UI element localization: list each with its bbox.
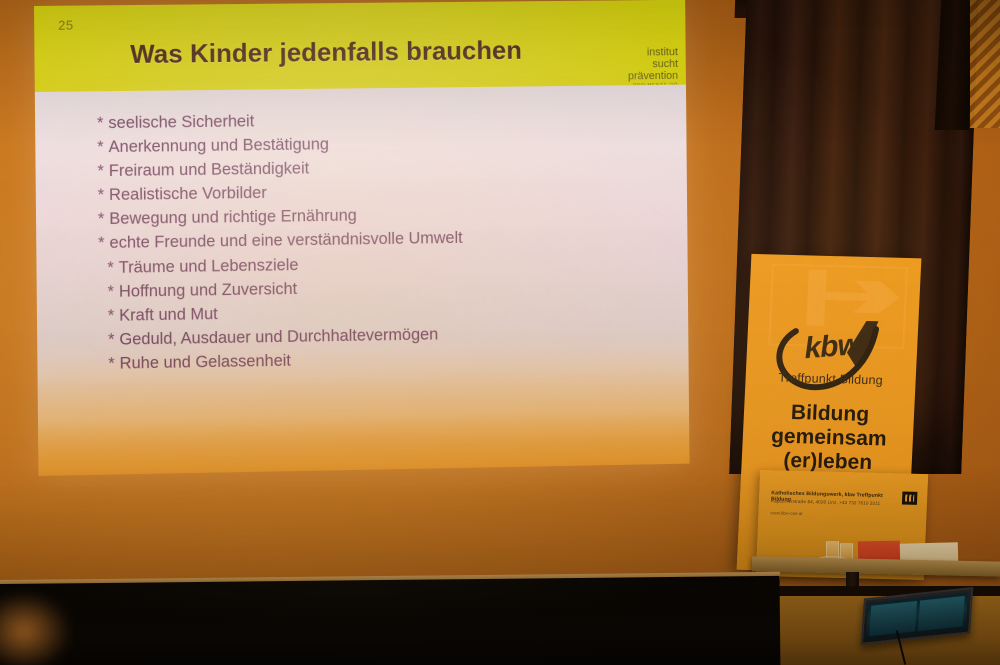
list-item: *Realistische Vorbilder	[98, 180, 648, 204]
bullet-star-icon: *	[97, 114, 104, 132]
bullet-text: seelische Sicherheit	[108, 112, 254, 132]
slide-number: 25	[58, 18, 74, 33]
list-item: *Bewegung und richtige Ernährung	[98, 204, 648, 228]
stage-front	[0, 576, 780, 665]
list-item: *Geduld, Ausdauer und Durchhaltevermögen	[99, 323, 649, 348]
banner-headline: Bildung gemeinsam (er)leben	[751, 400, 906, 476]
bullet-star-icon: *	[108, 307, 115, 325]
bullet-star-icon: *	[97, 138, 104, 156]
laptop-screen-pane	[917, 596, 964, 631]
laptop-screen	[866, 593, 968, 640]
bullet-star-icon: *	[98, 186, 105, 204]
logo-line-4: PRO MENTE OÖ	[628, 83, 678, 89]
bullet-star-icon: *	[108, 282, 115, 300]
bullet-text: Geduld, Ausdauer und Durchhaltevermögen	[119, 325, 438, 348]
bullet-text: Bewegung und richtige Ernährung	[109, 207, 357, 228]
bullet-text: Ruhe und Gelassenheit	[120, 352, 291, 373]
list-item: *Anerkennung und Bestätigung	[97, 133, 647, 156]
bullet-star-icon: *	[98, 210, 105, 228]
bullet-star-icon: *	[97, 162, 104, 180]
bullet-star-icon: *	[98, 234, 105, 252]
list-item: *Kraft und Mut	[99, 299, 649, 324]
bullet-text: Freiraum und Beständigkeit	[109, 160, 309, 181]
foreground-blur	[0, 596, 90, 665]
banner-contact-website: www.kbw-ooe.at	[770, 510, 802, 516]
photo-scene: 25 Was Kinder jedenfalls brauchen instit…	[0, 0, 1000, 665]
bullet-text: Träume und Lebensziele	[119, 256, 299, 277]
bullet-text: echte Freunde und eine verständnisvolle …	[109, 229, 462, 252]
laptop-screen-pane	[869, 601, 916, 636]
slide-title: Was Kinder jedenfalls brauchen	[130, 35, 522, 70]
bullet-text: Kraft und Mut	[119, 305, 218, 325]
bullet-star-icon: *	[107, 258, 114, 276]
slide-bullet-list: *seelische Sicherheit *Anerkennung und B…	[97, 109, 650, 380]
bullet-text: Anerkennung und Bestätigung	[109, 135, 329, 156]
projected-slide: 25 Was Kinder jedenfalls brauchen instit…	[34, 0, 690, 476]
list-item: *Träume und Lebensziele	[98, 252, 648, 277]
list-item: *Freiraum und Beständigkeit	[97, 156, 647, 179]
bullet-star-icon: *	[108, 355, 115, 373]
list-item: *echte Freunde und eine verständnisvolle…	[98, 228, 648, 252]
list-item: *Ruhe und Gelassenheit	[99, 347, 649, 373]
bullet-text: Realistische Vorbilder	[109, 184, 267, 204]
logo-line-3: prävention	[628, 71, 678, 83]
institut-sucht-praevention-logo: institut sucht prävention PRO MENTE OÖ	[628, 47, 678, 89]
bullet-star-icon: *	[108, 331, 115, 349]
bullet-text: Hoffnung und Zuversicht	[119, 280, 297, 301]
list-item: *Hoffnung und Zuversicht	[99, 275, 649, 300]
slide-canvas: 25 Was Kinder jedenfalls brauchen instit…	[34, 0, 690, 476]
banner-qr-mark-icon	[902, 491, 918, 504]
wall-ornament-icon	[970, 0, 1000, 128]
list-item: *seelische Sicherheit	[97, 109, 647, 132]
slide-header-band: 25 Was Kinder jedenfalls brauchen instit…	[34, 0, 686, 92]
banner-headline-line-2: gemeinsam	[752, 424, 905, 452]
